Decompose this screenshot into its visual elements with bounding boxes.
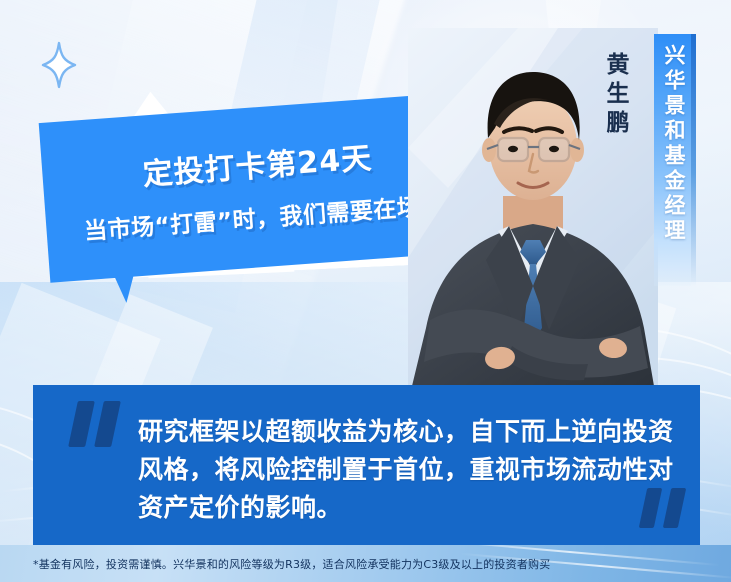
- quote-text: 研究框架以超额收益为核心，自下而上逆向投资风格，将风险控制置于首位，重视市场流动…: [138, 413, 676, 527]
- disclaimer-text: *基金有风险，投资需谨慎。兴华景和的风险等级为R3级，适合风险承受能力为C3级及…: [33, 556, 721, 572]
- person-title: 兴华景和基金经理: [656, 44, 689, 244]
- quote-close-mark-icon: [643, 488, 682, 533]
- quote-box: 研究框架以超额收益为核心，自下而上逆向投资风格，将风险控制置于首位，重视市场流动…: [33, 385, 700, 545]
- person-name: 黄生鹏: [602, 52, 632, 139]
- headline-banner-text: 定投打卡第24天 当市场“打雷”时，我们需要在场: [39, 93, 462, 283]
- poster-canvas: 定投打卡第24天 当市场“打雷”时，我们需要在场: [0, 0, 731, 582]
- sparkle-icon: [34, 41, 84, 91]
- title-bar-edge: [691, 34, 696, 286]
- quote-open-mark-icon: [73, 401, 116, 452]
